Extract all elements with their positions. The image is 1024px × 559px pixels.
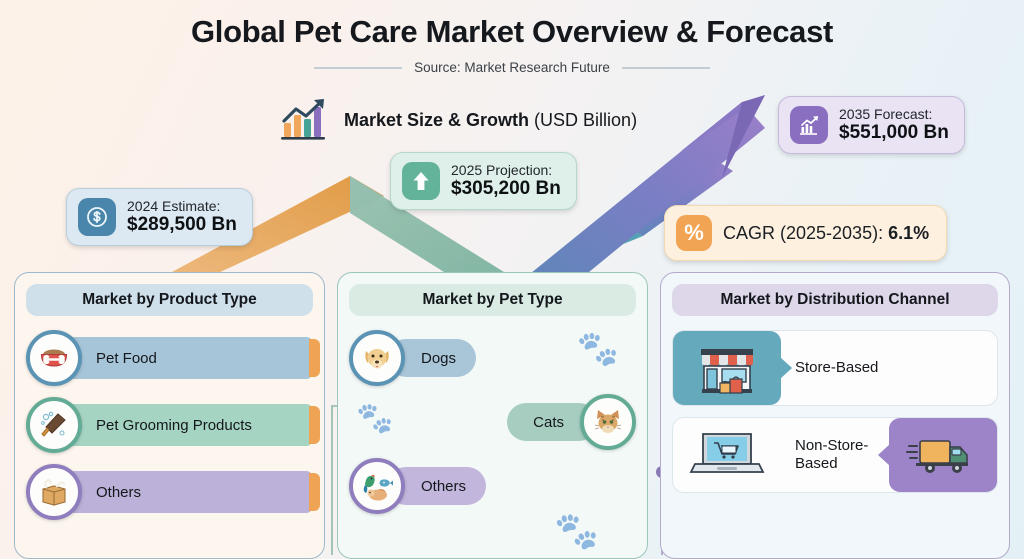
- heading-rest: (USD Billion): [529, 110, 637, 130]
- kpi-label: 2024 Estimate:: [127, 199, 237, 215]
- up-arrow-icon: [402, 162, 440, 200]
- kpi-label: 2035 Forecast:: [839, 107, 949, 123]
- list-item-non-store-based[interactable]: Non-Store-Based: [672, 417, 998, 493]
- kpi-text: 2025 Projection: $305,200 Bn: [451, 163, 561, 200]
- paw-watermark: 🐾: [554, 510, 599, 552]
- list-item-pet-food[interactable]: Pet Food: [26, 330, 313, 386]
- list-item-dogs[interactable]: Dogs: [349, 330, 636, 386]
- dollar-coin-icon: [78, 198, 116, 236]
- list-item-store-based[interactable]: Store-Based: [672, 330, 998, 406]
- dog-icon: [349, 330, 405, 386]
- heading-bold: Market Size & Growth: [344, 110, 529, 130]
- kpi-2025-projection[interactable]: 2025 Projection: $305,200 Bn: [390, 152, 577, 210]
- kpi-value: $305,200 Bn: [451, 178, 561, 199]
- item-label: Others: [66, 471, 313, 513]
- divider-right: [622, 67, 710, 69]
- kpi-text: 2024 Estimate: $289,500 Bn: [127, 199, 237, 236]
- header: Global Pet Care Market Overview & Foreca…: [0, 14, 1024, 75]
- growth-chart-icon: [790, 106, 828, 144]
- cagr-value: 6.1%: [888, 223, 929, 243]
- pet-food-bowl-icon: [26, 330, 82, 386]
- list-item-others-product[interactable]: Others: [26, 464, 313, 520]
- open-box-icon: [26, 464, 82, 520]
- item-label: Non-Store-Based: [781, 418, 889, 492]
- source-text: Source: Market Research Future: [414, 60, 610, 75]
- divider-left: [314, 67, 402, 69]
- cat-icon: [580, 394, 636, 450]
- grooming-brush-icon: [26, 397, 82, 453]
- kpi-text: 2035 Forecast: $551,000 Bn: [839, 107, 949, 144]
- kpi-label: 2025 Projection:: [451, 163, 561, 179]
- source-row: Source: Market Research Future: [0, 60, 1024, 75]
- list-item-pet-grooming-products[interactable]: Pet Grooming Products: [26, 397, 313, 453]
- segment-panels: Market by Product Type Pet Food: [0, 272, 1024, 559]
- panel-market-by-pet-type: Market by Pet Type 🐾 🐾 🐾 Dogs Cats: [337, 272, 648, 559]
- panel-market-by-distribution-channel: Market by Distribution Channel: [660, 272, 1010, 559]
- item-label: Pet Grooming Products: [66, 404, 313, 446]
- bar-chart-growth-icon: [278, 97, 330, 143]
- panel-title: Market by Product Type: [26, 284, 313, 316]
- item-label: Store-Based: [781, 331, 997, 405]
- page-title: Global Pet Care Market Overview & Foreca…: [0, 14, 1024, 50]
- cagr-text: CAGR (2025-2035): 6.1%: [723, 223, 929, 244]
- kpi-value: $289,500 Bn: [127, 214, 237, 235]
- cagr-label: CAGR (2025-2035):: [723, 223, 888, 243]
- cagr-badge[interactable]: % CAGR (2025-2035): 6.1%: [664, 205, 947, 261]
- kpi-2035-forecast[interactable]: 2035 Forecast: $551,000 Bn: [778, 96, 965, 154]
- panel-title: Market by Distribution Channel: [672, 284, 998, 316]
- panel-market-by-product-type: Market by Product Type Pet Food: [14, 272, 325, 559]
- kpi-2024-estimate[interactable]: 2024 Estimate: $289,500 Bn: [66, 188, 253, 246]
- market-size-label: Market Size & Growth (USD Billion): [344, 110, 637, 131]
- percent-icon: %: [676, 215, 712, 251]
- bird-fish-hamster-icon: [349, 458, 405, 514]
- market-size-heading: Market Size & Growth (USD Billion): [278, 97, 637, 143]
- delivery-truck-icon: [889, 418, 997, 492]
- storefront-icon: [673, 331, 781, 405]
- list-item-cats[interactable]: Cats: [349, 394, 636, 450]
- laptop-cart-icon: [673, 418, 781, 492]
- list-item-others-pet[interactable]: Others: [349, 458, 636, 514]
- panel-title: Market by Pet Type: [349, 284, 636, 316]
- kpi-value: $551,000 Bn: [839, 122, 949, 143]
- item-label: Pet Food: [66, 337, 313, 379]
